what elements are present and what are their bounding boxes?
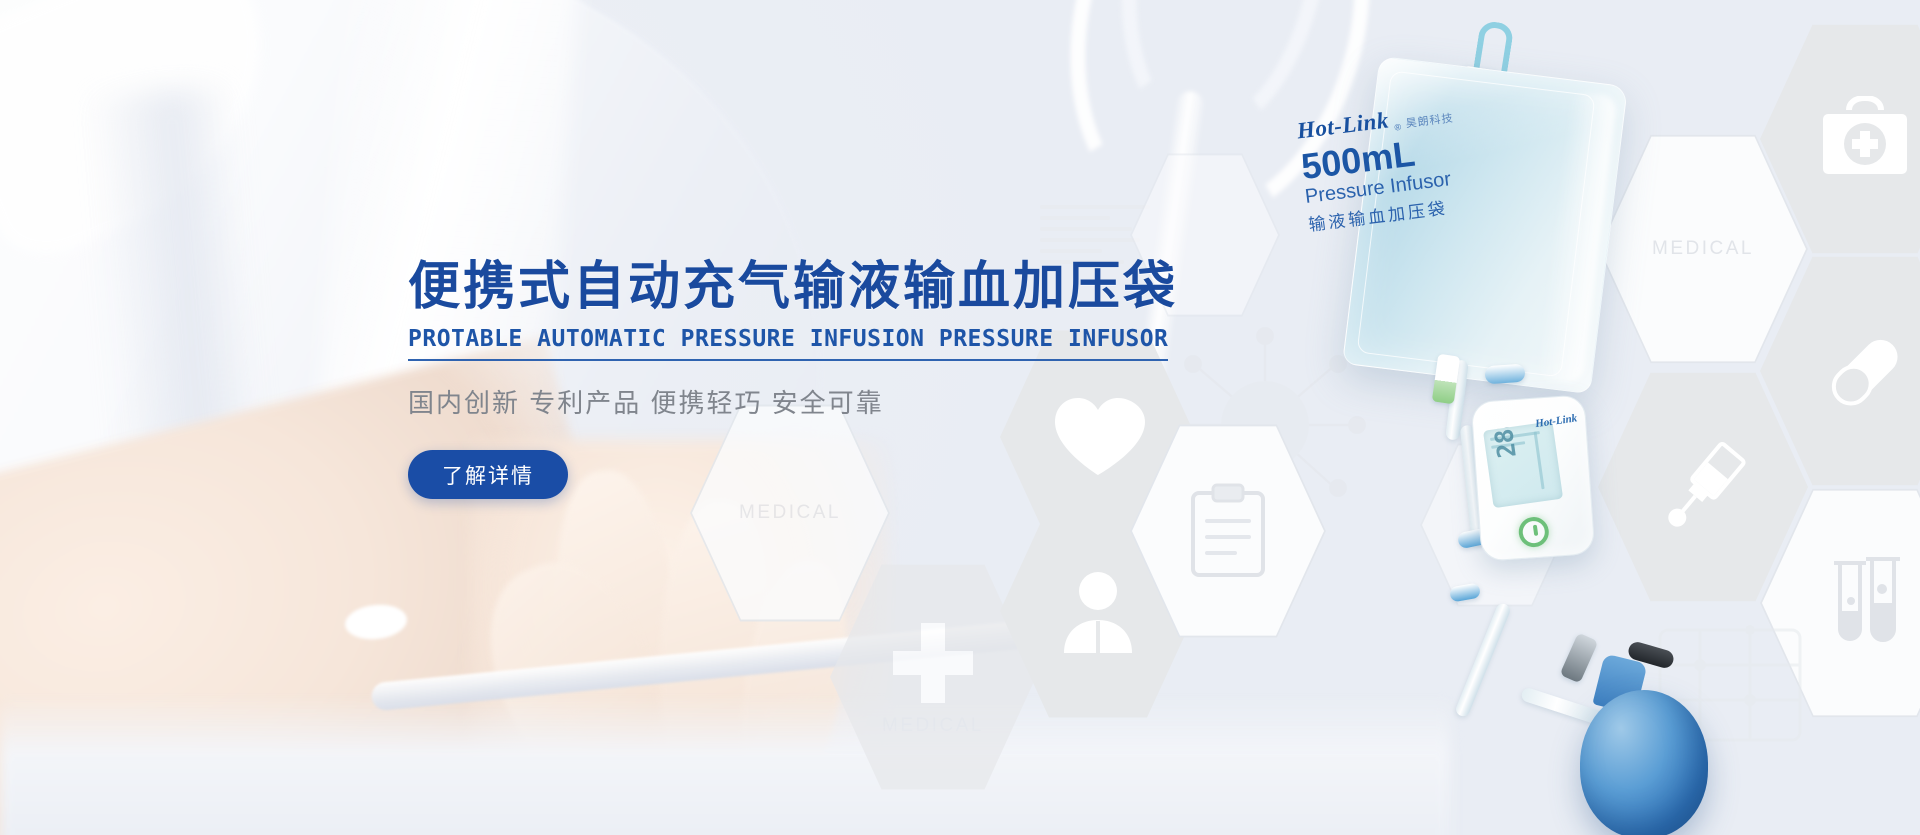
hexagon-content: MEDICAL <box>882 617 984 737</box>
tubing-clamp-blue <box>1484 364 1525 385</box>
pressure-pump-device: 288 Hot-Link <box>1471 394 1596 562</box>
page-title: 便携式自动充气输液输血加压袋 <box>408 258 1248 317</box>
hexagon-label: MEDICAL <box>739 502 841 524</box>
medical-cross-icon <box>887 617 979 709</box>
hero-banner: MEDICAL <box>0 0 1920 835</box>
learn-more-button[interactable]: 了解详情 <box>408 450 568 499</box>
tubing-connector-grey <box>1560 633 1599 684</box>
registered-icon: ® <box>1394 122 1402 133</box>
hexagon-label: MEDICAL <box>882 715 984 737</box>
iv-tubing <box>1454 602 1512 719</box>
desk-edge-shape <box>0 695 1450 835</box>
pump-brand: Hot-Link <box>1534 412 1577 430</box>
pump-lcd-display: 288 <box>1483 421 1563 508</box>
power-button-icon[interactable] <box>1517 515 1551 549</box>
inflation-bulb <box>1580 690 1708 835</box>
iv-bag-brand-cn: 昊朗科技 <box>1405 109 1455 131</box>
person-icon <box>1052 565 1144 657</box>
subheadline: PROTABLE AUTOMATIC PRESSURE INFUSION PRE… <box>408 326 1168 361</box>
product-image: Hot-Link ® 昊朗科技 500mL Pressure Infusor 输… <box>1280 10 1920 835</box>
iv-bag-label: Hot-Link ® 昊朗科技 500mL Pressure Infusor 输… <box>1296 94 1509 235</box>
pump-display-value: 288 <box>1487 421 1522 460</box>
subheadline-wrap: PROTABLE AUTOMATIC PRESSURE INFUSION PRE… <box>408 317 1248 361</box>
tubing-clamp-blue <box>1449 583 1481 603</box>
tagline: 国内创新 专利产品 便携轻巧 安全可靠 <box>408 383 1248 420</box>
hero-copy-block: 便携式自动充气输液输血加压袋 PROTABLE AUTOMATIC PRESSU… <box>408 258 1248 499</box>
